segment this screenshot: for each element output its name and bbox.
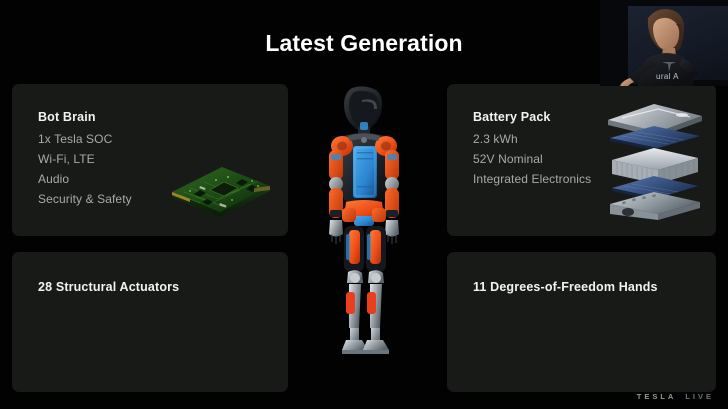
tesla-optimus-robot-render <box>296 84 432 404</box>
list-item: Security & Safety <box>38 189 132 209</box>
pcb-circuit-board-image <box>166 150 276 222</box>
list-item: Audio <box>38 169 132 189</box>
list-item: 52V Nominal <box>473 149 591 169</box>
list-item: Wi-Fi, LTE <box>38 149 132 169</box>
list-item: 2.3 kWh <box>473 129 591 149</box>
tesla-live-watermark: TESLA LIVE <box>637 392 714 401</box>
watermark-brand: TESLA <box>637 392 677 401</box>
card-hands: 11 Degrees-of-Freedom Hands <box>447 252 716 392</box>
card-structural-actuators-heading: 28 Structural Actuators <box>38 280 179 294</box>
stage-screen-caption: ural A <box>656 72 679 81</box>
list-item: Integrated Electronics <box>473 169 591 189</box>
list-item: 1x Tesla SOC <box>38 129 132 149</box>
card-bot-brain-spec-list: 1x Tesla SOC Wi-Fi, LTE Audio Security &… <box>38 129 132 209</box>
battery-pack-exploded-view-image <box>598 98 710 220</box>
presenter-video-inset: ural A <box>600 0 728 86</box>
card-hands-heading: 11 Degrees-of-Freedom Hands <box>473 280 658 294</box>
card-bot-brain: Bot Brain 1x Tesla SOC Wi-Fi, LTE Audio … <box>12 84 288 236</box>
slide-root: Latest Generation Bot Brain 1x Tesla SOC… <box>0 0 728 409</box>
card-battery-pack-spec-list: 2.3 kWh 52V Nominal Integrated Electroni… <box>473 129 591 189</box>
card-battery-pack-heading: Battery Pack <box>473 110 551 124</box>
watermark-event: LIVE <box>685 392 714 401</box>
card-structural-actuators: 28 Structural Actuators <box>12 252 288 392</box>
card-battery-pack: Battery Pack 2.3 kWh 52V Nominal Integra… <box>447 84 716 236</box>
card-bot-brain-heading: Bot Brain <box>38 110 96 124</box>
